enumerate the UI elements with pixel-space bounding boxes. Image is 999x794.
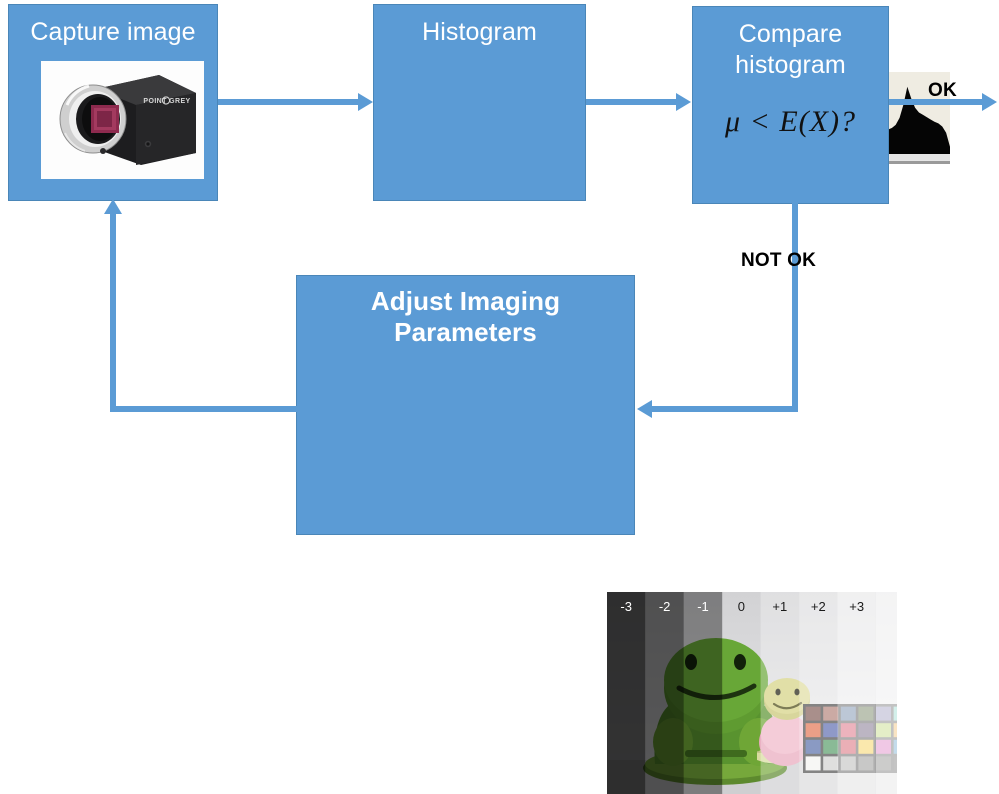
node-adjust-imaging-parameters[interactable]: Adjust Imaging Parameters [296,275,635,535]
node-compare-histogram-label: Compare histogram [693,19,888,81]
edge-histogram-to-compare-arrowhead [676,93,691,111]
comparison-formula: μ < E(X)? [693,105,888,139]
edge-ok-arrowhead [982,93,997,111]
camera-illustration: POINT GREY [41,61,204,179]
exposure-strip [684,592,722,794]
diagram-canvas: Capture image POINT GREY [0,0,999,537]
edge-label-ok: OK [928,80,957,102]
edge-not-ok-horizontal-line [652,406,798,412]
camera-photo: POINT GREY [41,61,204,179]
exposure-strip-label: +1 [772,599,787,614]
edge-capture-to-histogram-arrowhead [358,93,373,111]
exposure-strip [838,592,876,794]
exposure-strip-label: -2 [659,599,671,614]
exposure-strip [799,592,837,794]
frog-scene-illustration: -3-2-10+1+2+3 [607,592,897,794]
exposure-strip [876,592,897,794]
edge-histogram-to-compare-line [586,99,678,105]
exposure-strip [645,592,683,794]
node-adjust-imaging-parameters-label: Adjust Imaging Parameters [297,286,634,348]
exposure-strip-label: 0 [738,599,745,614]
edge-feedback-horizontal-line [110,406,300,412]
exposure-strip [607,592,645,794]
exposure-strip-label: +3 [849,599,864,614]
node-capture-image[interactable]: Capture image POINT GREY [8,4,218,201]
node-histogram-label: Histogram [374,17,585,48]
node-histogram[interactable]: Histogram [373,4,586,201]
edge-label-not-ok: NOT OK [741,250,816,272]
exposure-bracket-photo: -3-2-10+1+2+3 [607,592,897,794]
node-compare-histogram[interactable]: Compare histogram μ < E(X)? [692,6,889,204]
edge-feedback-vertical-line [110,213,116,410]
exposure-strips [607,592,897,794]
edge-not-ok-vertical-line [792,203,798,412]
edge-capture-to-histogram-line [218,99,360,105]
exposure-strip-label: -3 [620,599,632,614]
exposure-strip-label: +2 [811,599,826,614]
edge-feedback-arrowhead [104,199,122,214]
exposure-strip-label: -1 [697,599,709,614]
node-capture-image-label: Capture image [9,17,217,48]
edge-not-ok-arrowhead [637,400,652,418]
exposure-strip [761,592,799,794]
